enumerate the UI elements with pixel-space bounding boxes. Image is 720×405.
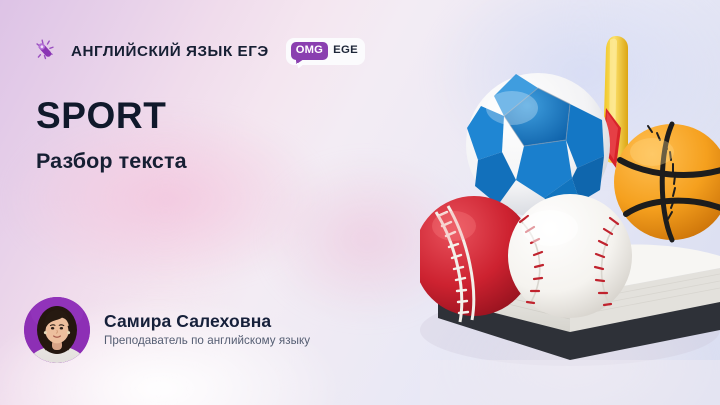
magic-wand-sparkle-icon	[30, 36, 60, 66]
title-block: SPORT Разбор текста	[36, 97, 187, 173]
omg-pill-label: OMG	[291, 42, 328, 60]
soccer-ball	[466, 73, 610, 217]
avatar	[24, 297, 90, 363]
ege-label: EGE	[333, 45, 358, 56]
sports-equipment-illustration	[420, 0, 720, 405]
page-title: SPORT	[36, 97, 187, 134]
presenter-text: Самира Салеховна Преподаватель по англий…	[104, 313, 310, 347]
header-bar: АНГЛИЙСКИЙ ЯЗЫК ЕГЭ OMG EGE	[30, 36, 365, 66]
header-title: АНГЛИЙСКИЙ ЯЗЫК ЕГЭ	[71, 43, 269, 60]
presenter-role: Преподаватель по английскому языку	[104, 335, 310, 347]
presenter-name: Самира Салеховна	[104, 313, 310, 331]
presenter-block: Самира Салеховна Преподаватель по англий…	[24, 297, 310, 363]
baseball	[508, 194, 632, 318]
presentation-slide: АНГЛИЙСКИЙ ЯЗЫК ЕГЭ OMG EGE SPORT Разбор…	[0, 0, 720, 405]
page-subtitle: Разбор текста	[36, 151, 187, 173]
basketball	[614, 124, 720, 240]
omg-ege-badge[interactable]: OMG EGE	[286, 38, 365, 65]
